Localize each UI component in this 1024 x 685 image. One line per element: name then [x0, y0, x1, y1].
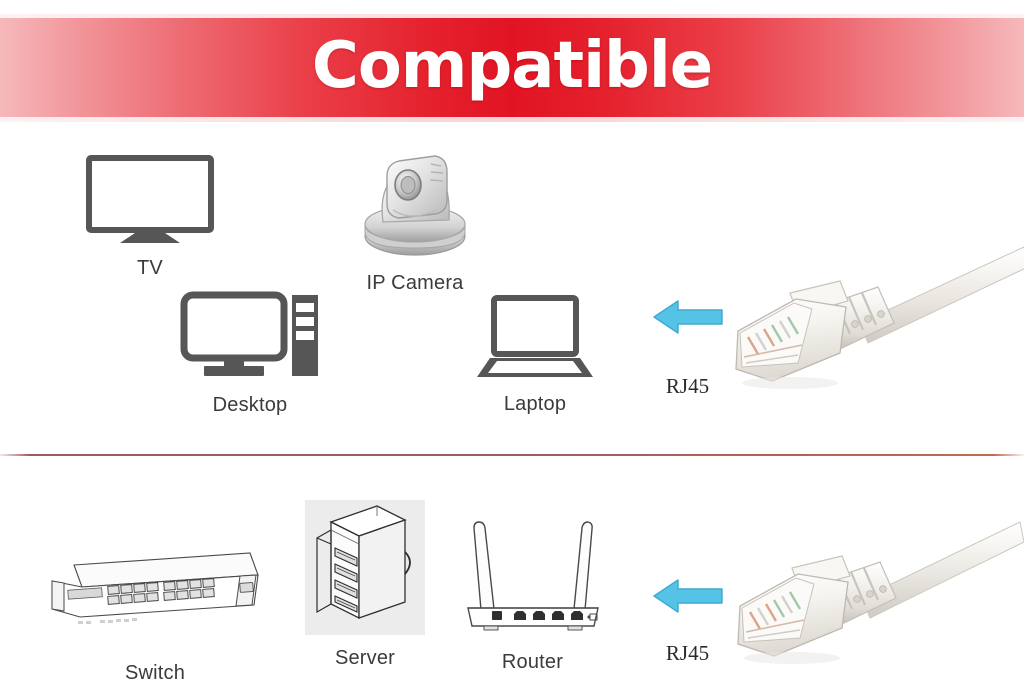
device-ip-camera: IP Camera: [335, 152, 495, 295]
section-divider: [0, 454, 1024, 456]
device-label-router: Router: [450, 651, 615, 674]
device-label-tv: TV: [60, 257, 240, 280]
device-router: Router: [450, 510, 615, 674]
server-rack-icon: [300, 500, 430, 635]
tv-icon: [60, 155, 240, 245]
device-desktop: Desktop: [160, 290, 340, 417]
device-label-desktop: Desktop: [160, 394, 340, 417]
desktop-computer-icon: [160, 290, 340, 382]
device-server: Server: [300, 500, 430, 670]
header-banner: Compatible: [0, 18, 1024, 118]
device-label-laptop: Laptop: [460, 393, 610, 416]
banner-bottom-highlight: [0, 117, 1024, 122]
device-laptop: Laptop: [460, 295, 610, 416]
rj45-ethernet-cable-bottom: [722, 518, 1024, 681]
wireless-router-icon: [450, 510, 615, 635]
device-label-switch: Switch: [30, 662, 280, 685]
ip-camera-icon: [335, 152, 495, 262]
device-tv: TV: [60, 155, 240, 280]
laptop-icon: [460, 295, 610, 381]
arrow-left-icon: [651, 575, 725, 617]
arrow-left-icon: [651, 296, 725, 338]
rj45-label-top: RJ45: [635, 374, 740, 399]
compatibility-infographic: Compatible TV: [0, 0, 1024, 681]
device-label-ip-camera: IP Camera: [335, 272, 495, 295]
network-switch-icon: [30, 545, 280, 640]
connector-callout-top: RJ45: [635, 296, 740, 399]
page-title: Compatible: [312, 34, 712, 98]
rj45-ethernet-cable-top: [728, 245, 1024, 395]
device-label-server: Server: [300, 647, 430, 670]
device-switch: Switch: [30, 545, 280, 685]
